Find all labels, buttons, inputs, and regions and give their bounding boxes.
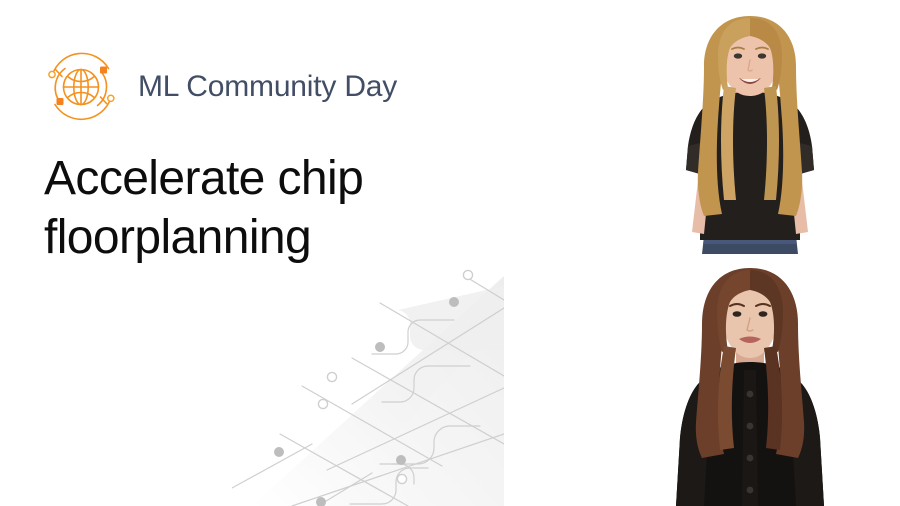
circuit-node [463,270,472,279]
presentation-slide: ML Community Day Accelerate chip floorpl… [0,0,900,506]
circuit-node [318,399,327,408]
speaker-photo-top [600,0,900,254]
circuit-node [316,497,326,506]
brand-name-label: ML Community Day [138,72,397,102]
slide-title: Accelerate chip floorplanning [44,150,514,267]
slide-title-line-1: Accelerate chip [44,150,514,209]
circuit-node [327,372,336,381]
orbiting-globe-icon [38,44,124,130]
circuit-node [396,455,406,465]
slide-title-line-2: floorplanning [44,209,514,268]
circuit-node [449,297,459,307]
circuit-node [375,342,385,352]
circuit-node [397,474,406,483]
circuit-trace-graphic [232,258,504,506]
brand-lockup: ML Community Day [38,44,397,130]
speaker-photo-bottom [600,254,900,506]
circuit-node [274,447,284,457]
